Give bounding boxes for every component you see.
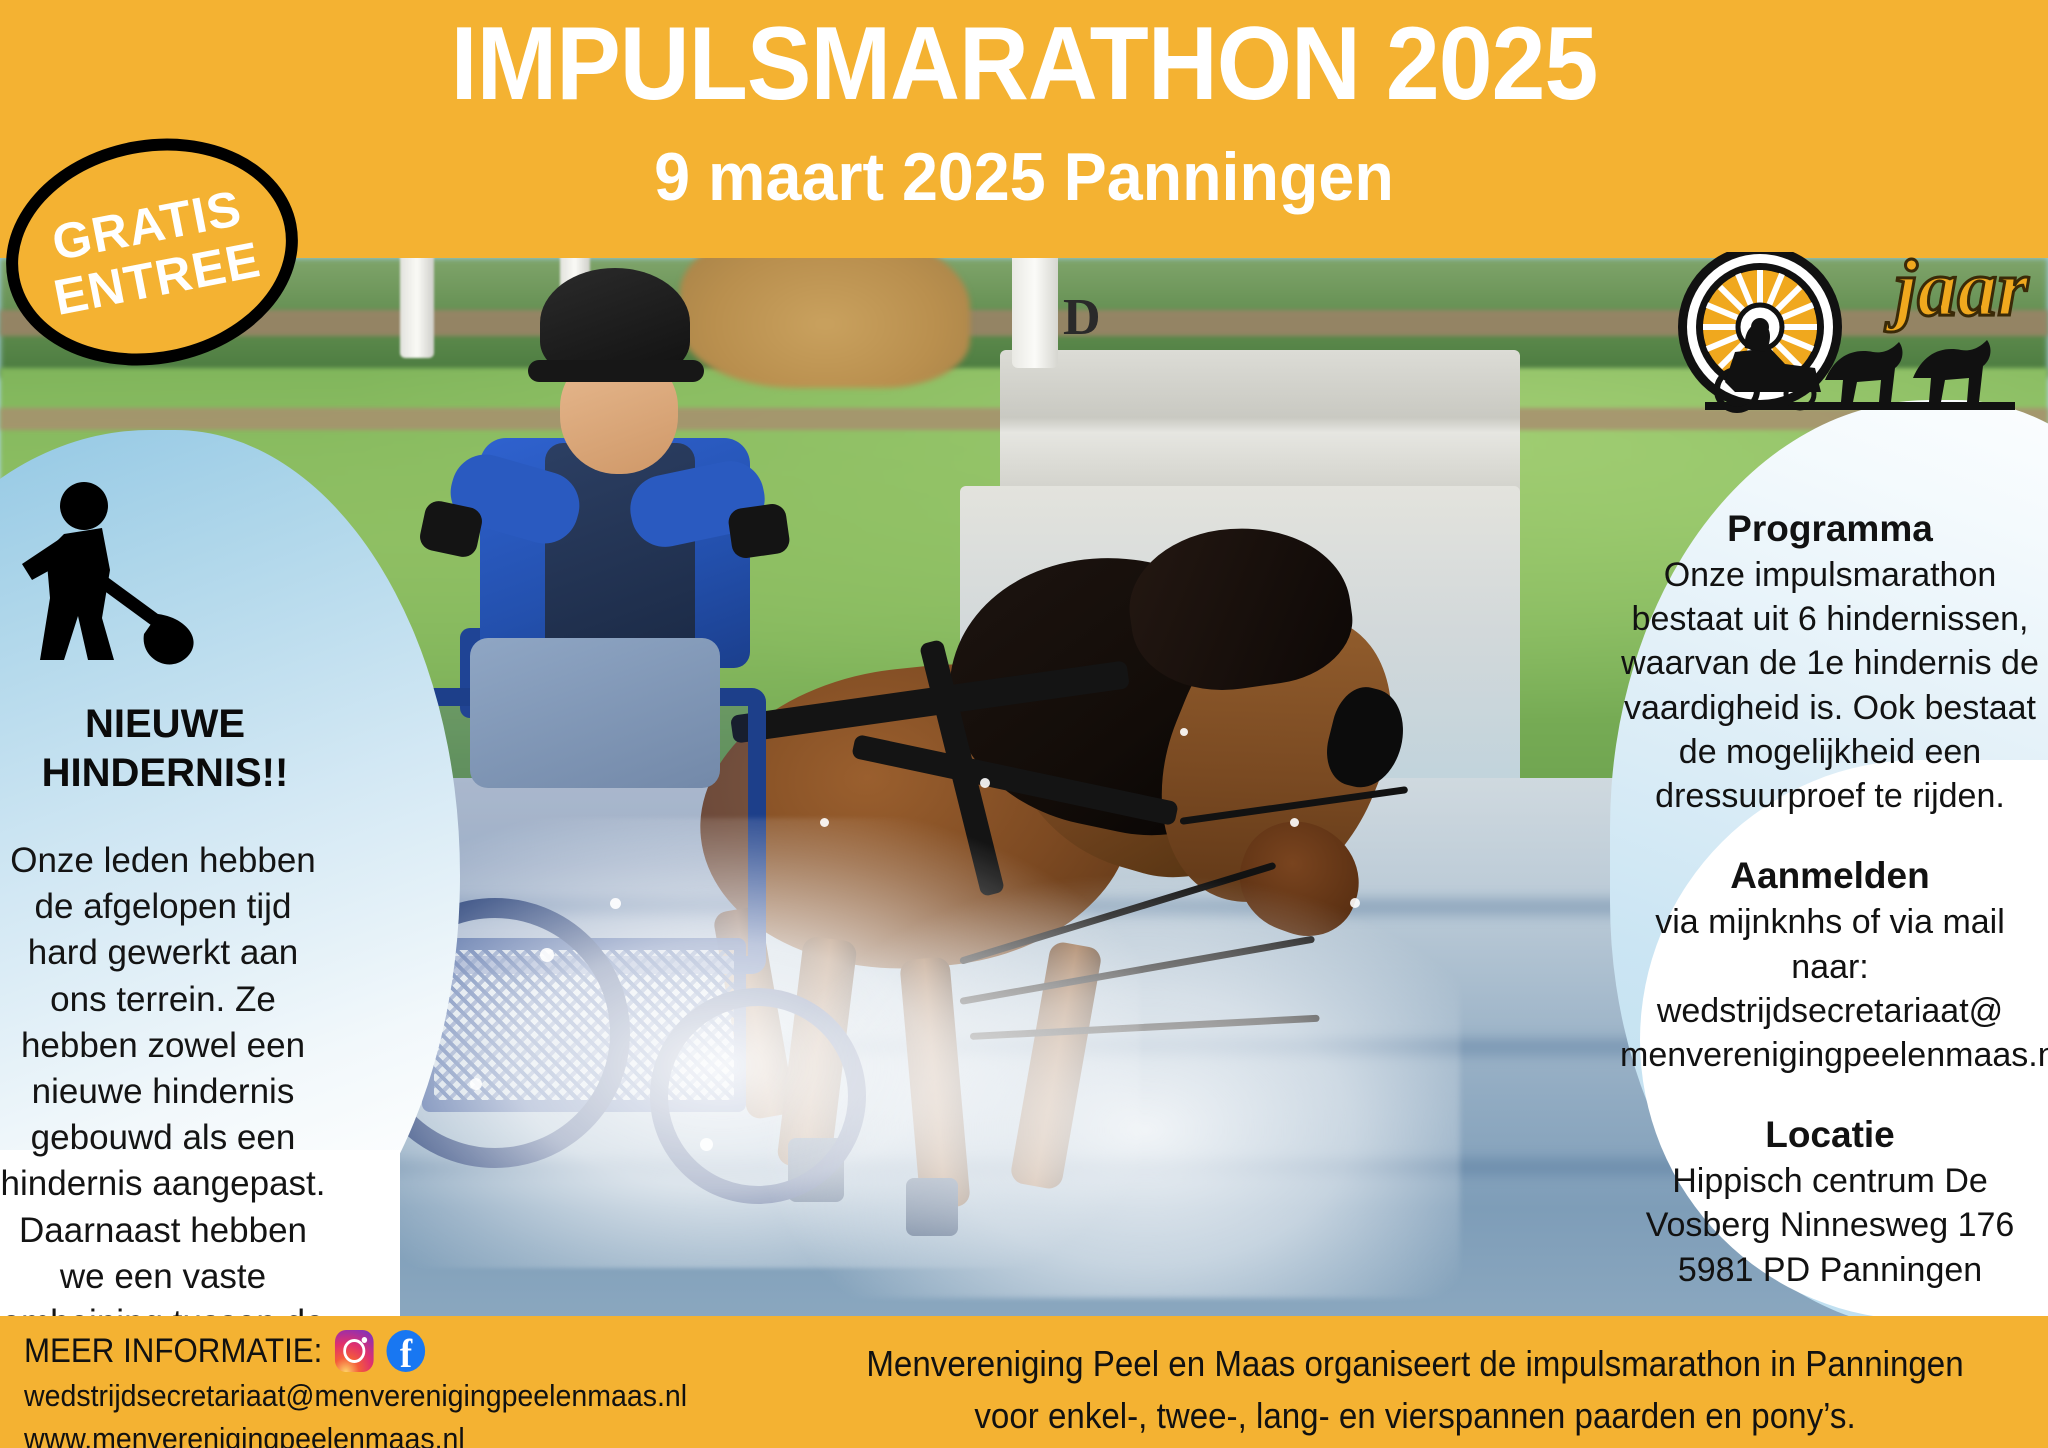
poster-root: D	[0, 0, 2048, 1448]
page-subtitle: 9 maart 2025 Panningen	[51, 140, 1997, 215]
footer-tagline-line1: Menvereniging Peel en Maas organiseert d…	[858, 1338, 1971, 1390]
more-info-label: MEER INFORMATIE:	[24, 1328, 322, 1375]
left-heading-line1: NIEUWE	[0, 700, 330, 749]
footer-website[interactable]: www.menverenigingpeelenmaas.nl	[24, 1418, 723, 1448]
footer-tagline-line2: voor enkel-, twee-, lang- en vierspannen…	[858, 1390, 1971, 1442]
programma-body: Onze impulsmarathon bestaat uit 6 hinder…	[1620, 553, 2040, 818]
locatie-heading: Locatie	[1620, 1111, 2040, 1159]
facebook-icon[interactable]	[387, 1330, 426, 1372]
photo-driver	[440, 268, 770, 738]
instagram-icon[interactable]	[335, 1330, 374, 1372]
locatie-body: Hippisch centrum De Vosberg Ninnesweg 17…	[1620, 1159, 2040, 1292]
digging-worker-icon	[6, 478, 216, 678]
footer-email[interactable]: wedstrijdsecretariaat@menverenigingpeele…	[24, 1375, 723, 1418]
header-band: IMPULSMARATHON 2025 9 maart 2025 Panning…	[0, 0, 2048, 258]
logo-word-jaar: jaar	[1895, 244, 2028, 335]
footer-contact-block: MEER INFORMATIE: wedstrijdsecretariaat@m…	[24, 1328, 723, 1448]
photo-marker-post	[1012, 258, 1058, 368]
programma-heading: Programma	[1620, 505, 2040, 553]
photo-post-left	[400, 258, 434, 358]
footer-bar: MEER INFORMATIE: wedstrijdsecretariaat@m…	[0, 1316, 2048, 1448]
right-panel-content: Programma Onze impulsmarathon bestaat ui…	[1620, 505, 2040, 1418]
page-title: IMPULSMARATHON 2025	[72, 8, 1977, 120]
left-heading-line2: HINDERNIS!!	[0, 749, 330, 798]
photo-water-splash	[760, 878, 1460, 1298]
footer-tagline: Menvereniging Peel en Maas organiseert d…	[858, 1338, 1971, 1442]
left-panel-heading: NIEUWE HINDERNIS!!	[0, 700, 330, 798]
anniversary-logo: 10 jaar	[1585, 252, 2048, 422]
photo-marker-letter: D	[1063, 288, 1101, 347]
aanmelden-heading: Aanmelden	[1620, 852, 2040, 900]
aanmelden-body: via mijnknhs of via mail naar: wedstrijd…	[1620, 900, 2040, 1077]
